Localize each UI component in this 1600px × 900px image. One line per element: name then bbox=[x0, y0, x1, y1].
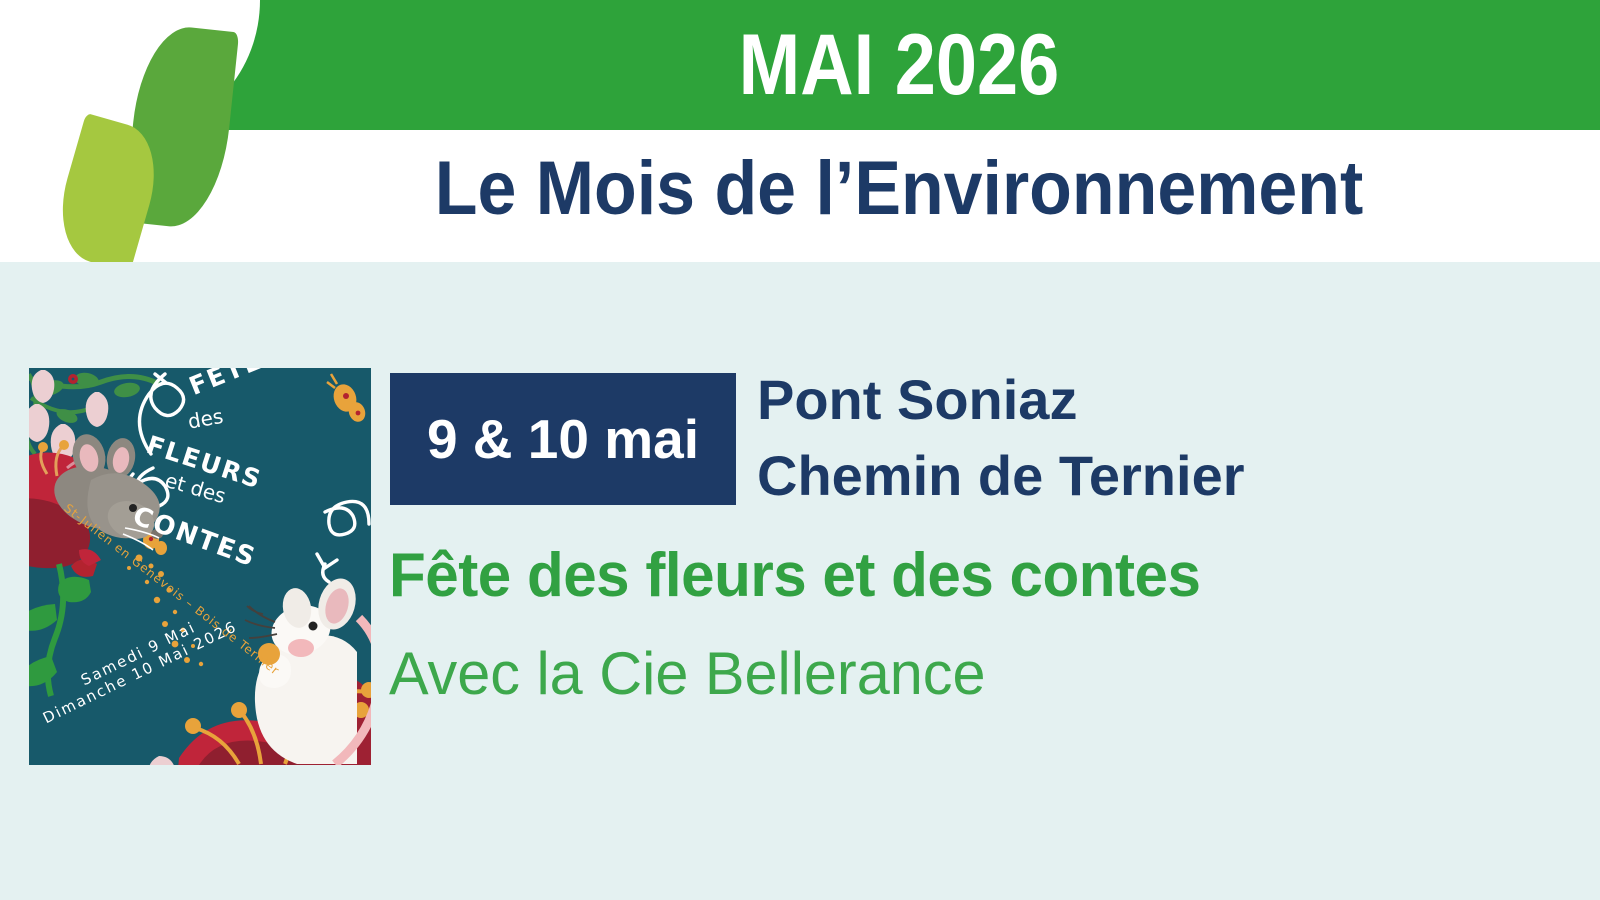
two-leaves-logo bbox=[55, 22, 255, 262]
venue-line-2: Chemin de Ternier bbox=[757, 438, 1245, 514]
banner-header: MAI 2026 Le Mois de l’Environnement bbox=[0, 0, 1600, 262]
page-subtitle: Le Mois de l’Environnement bbox=[254, 130, 1544, 246]
event-date-badge: 9 & 10 mai bbox=[390, 373, 736, 505]
event-banner-page: MAI 2026 Le Mois de l’Environnement bbox=[0, 0, 1600, 900]
event-venue: Pont Soniaz Chemin de Ternier bbox=[757, 362, 1245, 514]
petal-icon bbox=[149, 756, 176, 765]
event-poster-image[interactable]: FÊTE des FLEURS et des CONTES St-Julien … bbox=[29, 368, 371, 765]
butterfly-icon bbox=[327, 374, 368, 424]
event-listing: FÊTE des FLEURS et des CONTES St-Julien … bbox=[0, 262, 1600, 900]
venue-line-1: Pont Soniaz bbox=[757, 362, 1245, 438]
page-title-month-year: MAI 2026 bbox=[296, 0, 1502, 130]
event-title: Fête des fleurs et des contes bbox=[389, 540, 1200, 611]
mouse-eye-icon bbox=[309, 622, 318, 631]
event-subtitle: Avec la Cie Bellerance bbox=[389, 639, 986, 708]
